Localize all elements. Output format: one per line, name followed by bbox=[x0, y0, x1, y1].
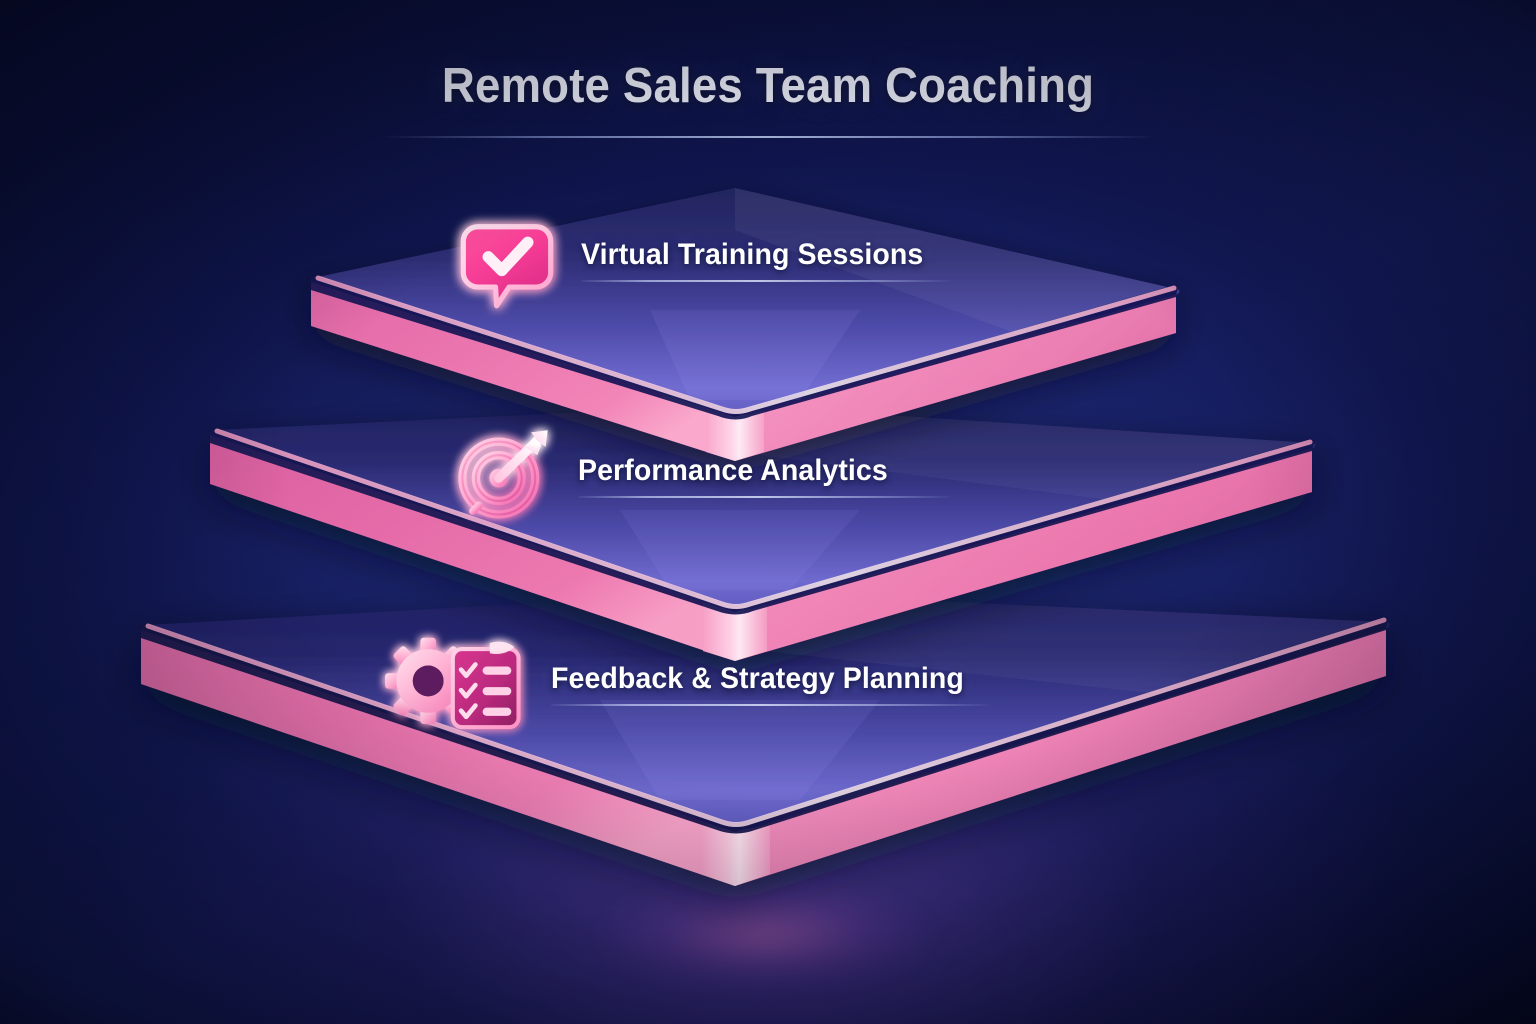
layer-label-wrap: Feedback & Strategy Planning bbox=[551, 662, 986, 706]
layer-label-virtual-training: Virtual Training Sessions bbox=[581, 238, 923, 272]
layer-row-virtual-training[interactable]: Virtual Training Sessions bbox=[455, 208, 941, 312]
layer-label-wrap: Performance Analytics bbox=[578, 454, 904, 498]
gear-checklist-icon bbox=[383, 632, 537, 736]
layer-label-underline bbox=[578, 496, 950, 498]
layer-label-wrap: Virtual Training Sessions bbox=[581, 238, 941, 282]
speech-bubble-check-icon bbox=[455, 208, 559, 312]
layer-label-performance-analytics: Performance Analytics bbox=[578, 454, 888, 488]
layer-row-feedback-strategy[interactable]: Feedback & Strategy Planning bbox=[383, 632, 986, 736]
layer-label-underline bbox=[581, 280, 949, 282]
layer-label-feedback-strategy: Feedback & Strategy Planning bbox=[551, 662, 964, 696]
layer-row-performance-analytics[interactable]: Performance Analytics bbox=[452, 424, 904, 528]
layer-label-underline bbox=[551, 704, 989, 706]
infographic-canvas: Remote Sales Team Coaching bbox=[0, 0, 1536, 1024]
target-arrow-icon bbox=[452, 424, 556, 528]
